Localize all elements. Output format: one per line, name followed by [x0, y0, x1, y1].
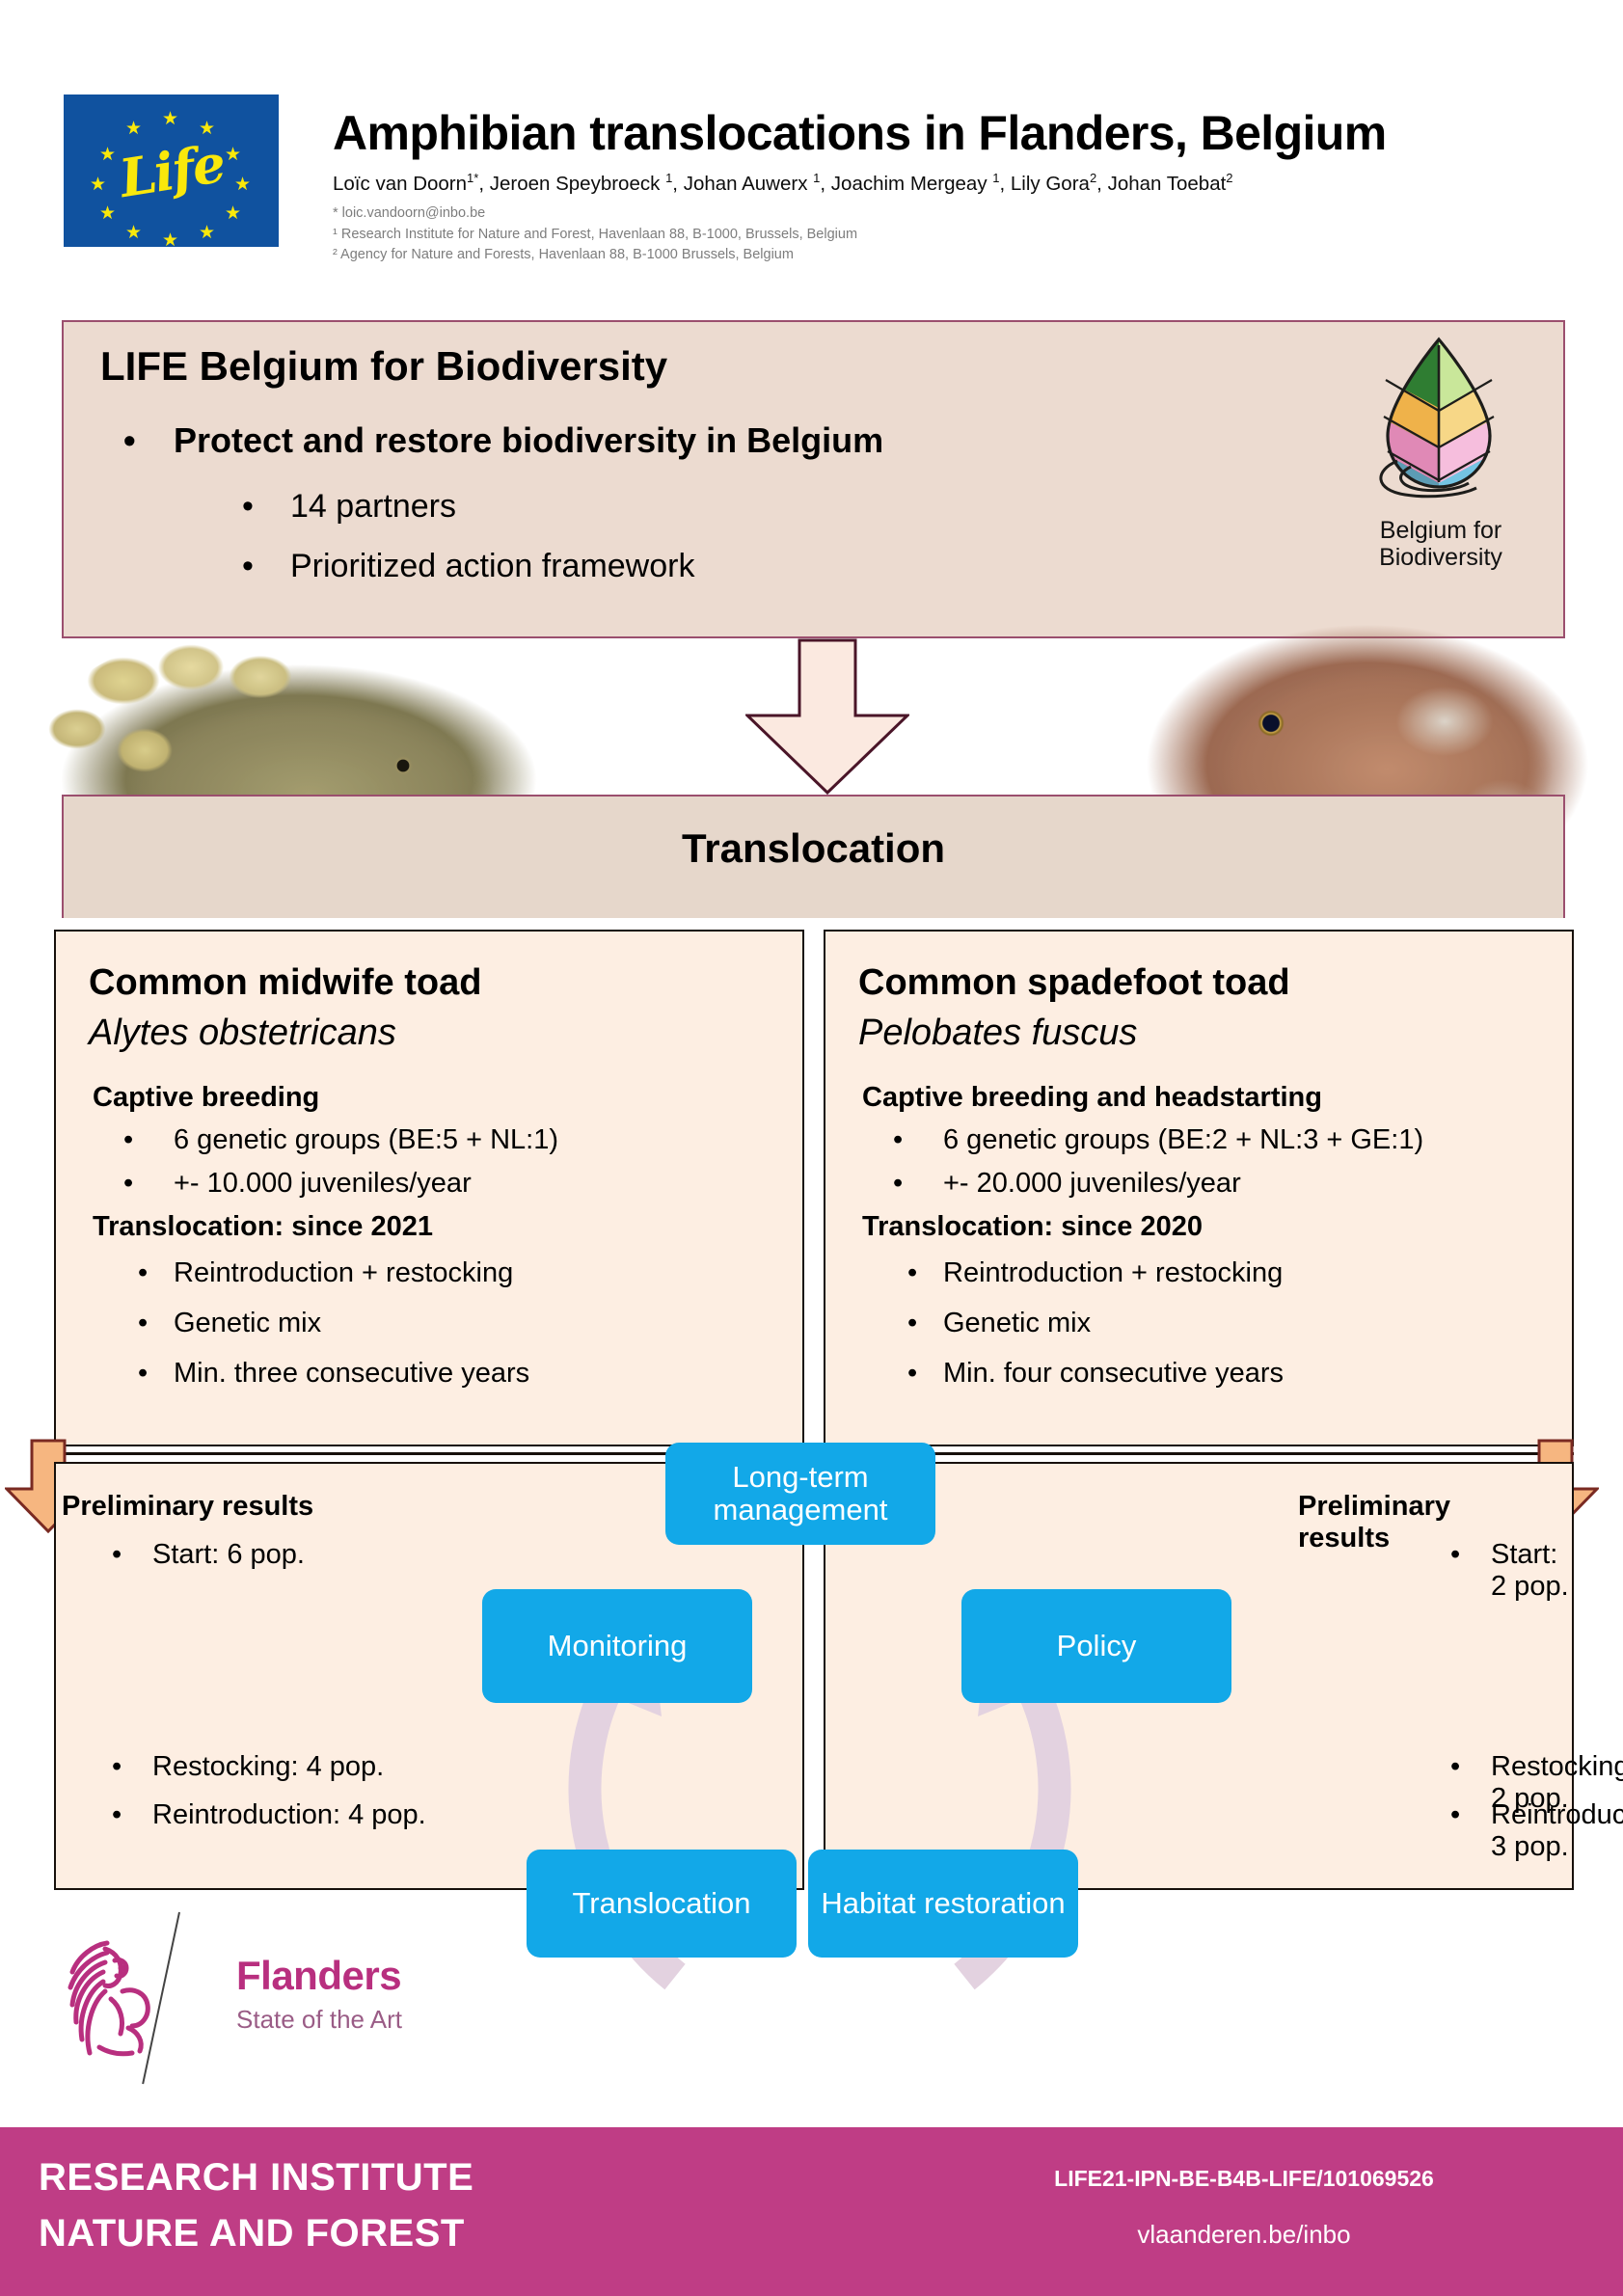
cycle-node-label: Translocation [573, 1887, 751, 1920]
affiliations: * loic.vandoorn@inbo.be ¹ Research Insti… [333, 203, 1577, 266]
belgium-for-biodiversity-logo: Belgium for Biodiversity [1339, 336, 1542, 625]
bullet-glyph: • [123, 1124, 133, 1156]
bullet-glyph: • [242, 488, 290, 526]
poster-footer: RESEARCH INSTITUTE NATURE AND FOREST LIF… [0, 2127, 1623, 2296]
captive-breeding-heading: Captive breeding and headstarting [862, 1082, 1322, 1114]
banner-main-bullet: •Protect and restore biodiversity in Bel… [123, 420, 883, 461]
captive-breeding-heading: Captive breeding [93, 1082, 319, 1114]
results-reintroduction: Reintroduction: 4 pop. [152, 1799, 426, 1831]
breeding-bullet-2: +- 10.000 juveniles/year [174, 1168, 472, 1200]
b4b-text-line2: Biodiversity [1339, 544, 1542, 571]
translocation-bullet-1: Reintroduction + restocking [174, 1257, 513, 1289]
banner-sub-bullet-2: •Prioritized action framework [242, 548, 694, 585]
breeding-bullet-1: 6 genetic groups (BE:2 + NL:3 + GE:1) [943, 1124, 1423, 1156]
bullet-glyph: • [112, 1799, 122, 1831]
corresponding-email: * loic.vandoorn@inbo.be [333, 203, 1577, 225]
flanders-wordmark: Flanders [236, 1953, 401, 1999]
cycle-node-label: Habitat restoration [821, 1887, 1065, 1920]
poster-header: ★ ★ ★ ★ ★ ★ ★ ★ ★ ★ ★ ★ Life Amphibian t… [0, 0, 1623, 309]
results-heading: Preliminary results [62, 1491, 313, 1523]
species-panel-midwife-toad: Common midwife toad Alytes obstetricans … [54, 930, 804, 1446]
flanders-tagline: State of the Art [236, 2005, 402, 2035]
results-heading: Preliminary results [1298, 1491, 1450, 1554]
banner-sub-bullet-1: •14 partners [242, 488, 456, 526]
bullet-glyph: • [123, 1168, 133, 1200]
banner-sub-bullet-2-label: Prioritized action framework [290, 548, 694, 584]
cycle-node-label: Monitoring [548, 1630, 688, 1662]
results-start: Start: 6 pop. [152, 1539, 305, 1571]
life-b4b-banner: LIFE Belgium for Biodiversity •Protect a… [62, 320, 1565, 638]
bullet-glyph: • [242, 548, 290, 585]
website-url[interactable]: vlaanderen.be/inbo [993, 2220, 1495, 2250]
species-panels-row: Common midwife toad Alytes obstetricans … [54, 930, 1574, 1446]
species-panel-spadefoot-toad: Common spadefoot toad Pelobates fuscus C… [824, 930, 1574, 1446]
banner-title: LIFE Belgium for Biodiversity [100, 343, 667, 390]
translocation-heading: Translocation: since 2020 [862, 1211, 1203, 1243]
project-code: LIFE21-IPN-BE-B4B-LIFE/101069526 [993, 2166, 1495, 2192]
breeding-bullet-1: 6 genetic groups (BE:5 + NL:1) [174, 1124, 558, 1156]
bullet-glyph: • [138, 1257, 148, 1289]
affiliation-2: ² Agency for Nature and Forests, Havenla… [333, 245, 1577, 266]
cycle-node-translocation[interactable]: Translocation [527, 1850, 797, 1958]
bullet-glyph: • [907, 1257, 917, 1289]
banner-sub-bullet-1-label: 14 partners [290, 488, 456, 525]
translocation-band-label: Translocation [64, 825, 1563, 872]
results-restocking: Restocking: 4 pop. [152, 1751, 384, 1783]
cycle-node-monitoring[interactable]: Monitoring [482, 1589, 752, 1703]
bullet-glyph: • [138, 1308, 148, 1339]
species-common-name: Common spadefoot toad [858, 962, 1290, 1004]
bullet-glyph: • [138, 1358, 148, 1390]
bullet-glyph: • [893, 1168, 903, 1200]
bullet-glyph: • [907, 1308, 917, 1339]
cycle-node-habitat-restoration[interactable]: Habitat restoration [808, 1850, 1078, 1958]
page-title: Amphibian translocations in Flanders, Be… [333, 108, 1577, 159]
down-arrow-icon [745, 638, 909, 795]
species-common-name: Common midwife toad [89, 962, 481, 1004]
translocation-bullet-3: Min. four consecutive years [943, 1358, 1284, 1390]
species-latin-name: Pelobates fuscus [858, 1013, 1137, 1054]
cycle-node-label: Policy [1057, 1630, 1137, 1662]
poster-root: ★ ★ ★ ★ ★ ★ ★ ★ ★ ★ ★ ★ Life Amphibian t… [0, 0, 1623, 2296]
water-drop-leaf-icon [1376, 336, 1501, 504]
title-block: Amphibian translocations in Flanders, Be… [333, 108, 1577, 266]
b4b-text-line1: Belgium for [1339, 517, 1542, 544]
management-cycle-diagram: Long-term management Policy Habitat rest… [482, 1427, 1157, 2044]
bullet-glyph: • [112, 1539, 122, 1571]
translocation-bullet-3: Min. three consecutive years [174, 1358, 529, 1390]
bullet-glyph: • [123, 420, 174, 461]
eu-life-logo: ★ ★ ★ ★ ★ ★ ★ ★ ★ ★ ★ ★ Life [64, 95, 279, 247]
translocation-bullet-1: Reintroduction + restocking [943, 1257, 1283, 1289]
author-list: Loïc van Doorn1*, Jeroen Speybroeck 1, J… [333, 171, 1577, 197]
affiliation-1: ¹ Research Institute for Nature and Fore… [333, 225, 1577, 246]
breeding-bullet-2: +- 20.000 juveniles/year [943, 1168, 1241, 1200]
bullet-glyph: • [1450, 1799, 1460, 1831]
b4b-logo-text: Belgium for Biodiversity [1339, 517, 1542, 571]
institute-line-2: NATURE AND FOREST [39, 2212, 465, 2255]
translocation-bullet-2: Genetic mix [943, 1308, 1091, 1339]
translocation-heading: Translocation: since 2021 [93, 1211, 433, 1243]
bullet-glyph: • [907, 1358, 917, 1390]
cycle-node-policy[interactable]: Policy [961, 1589, 1231, 1703]
results-start: Start: 2 pop. [1491, 1539, 1572, 1603]
translocation-band: Translocation [62, 795, 1565, 918]
bullet-glyph: • [1450, 1751, 1460, 1783]
institute-line-1: RESEARCH INSTITUTE [39, 2156, 473, 2200]
species-latin-name: Alytes obstetricans [89, 1013, 396, 1054]
flanders-logo: Flanders State of the Art [53, 1904, 468, 2097]
banner-main-bullet-label: Protect and restore biodiversity in Belg… [174, 420, 883, 460]
bullet-glyph: • [1450, 1539, 1460, 1571]
bullet-glyph: • [112, 1751, 122, 1783]
translocation-bullet-2: Genetic mix [174, 1308, 321, 1339]
cycle-node-long-term-management[interactable]: Long-term management [665, 1443, 935, 1545]
bullet-glyph: • [893, 1124, 903, 1156]
results-reintroduction: Reintroduction: 3 pop. [1491, 1799, 1623, 1863]
cycle-node-label: Long-term management [675, 1461, 926, 1526]
